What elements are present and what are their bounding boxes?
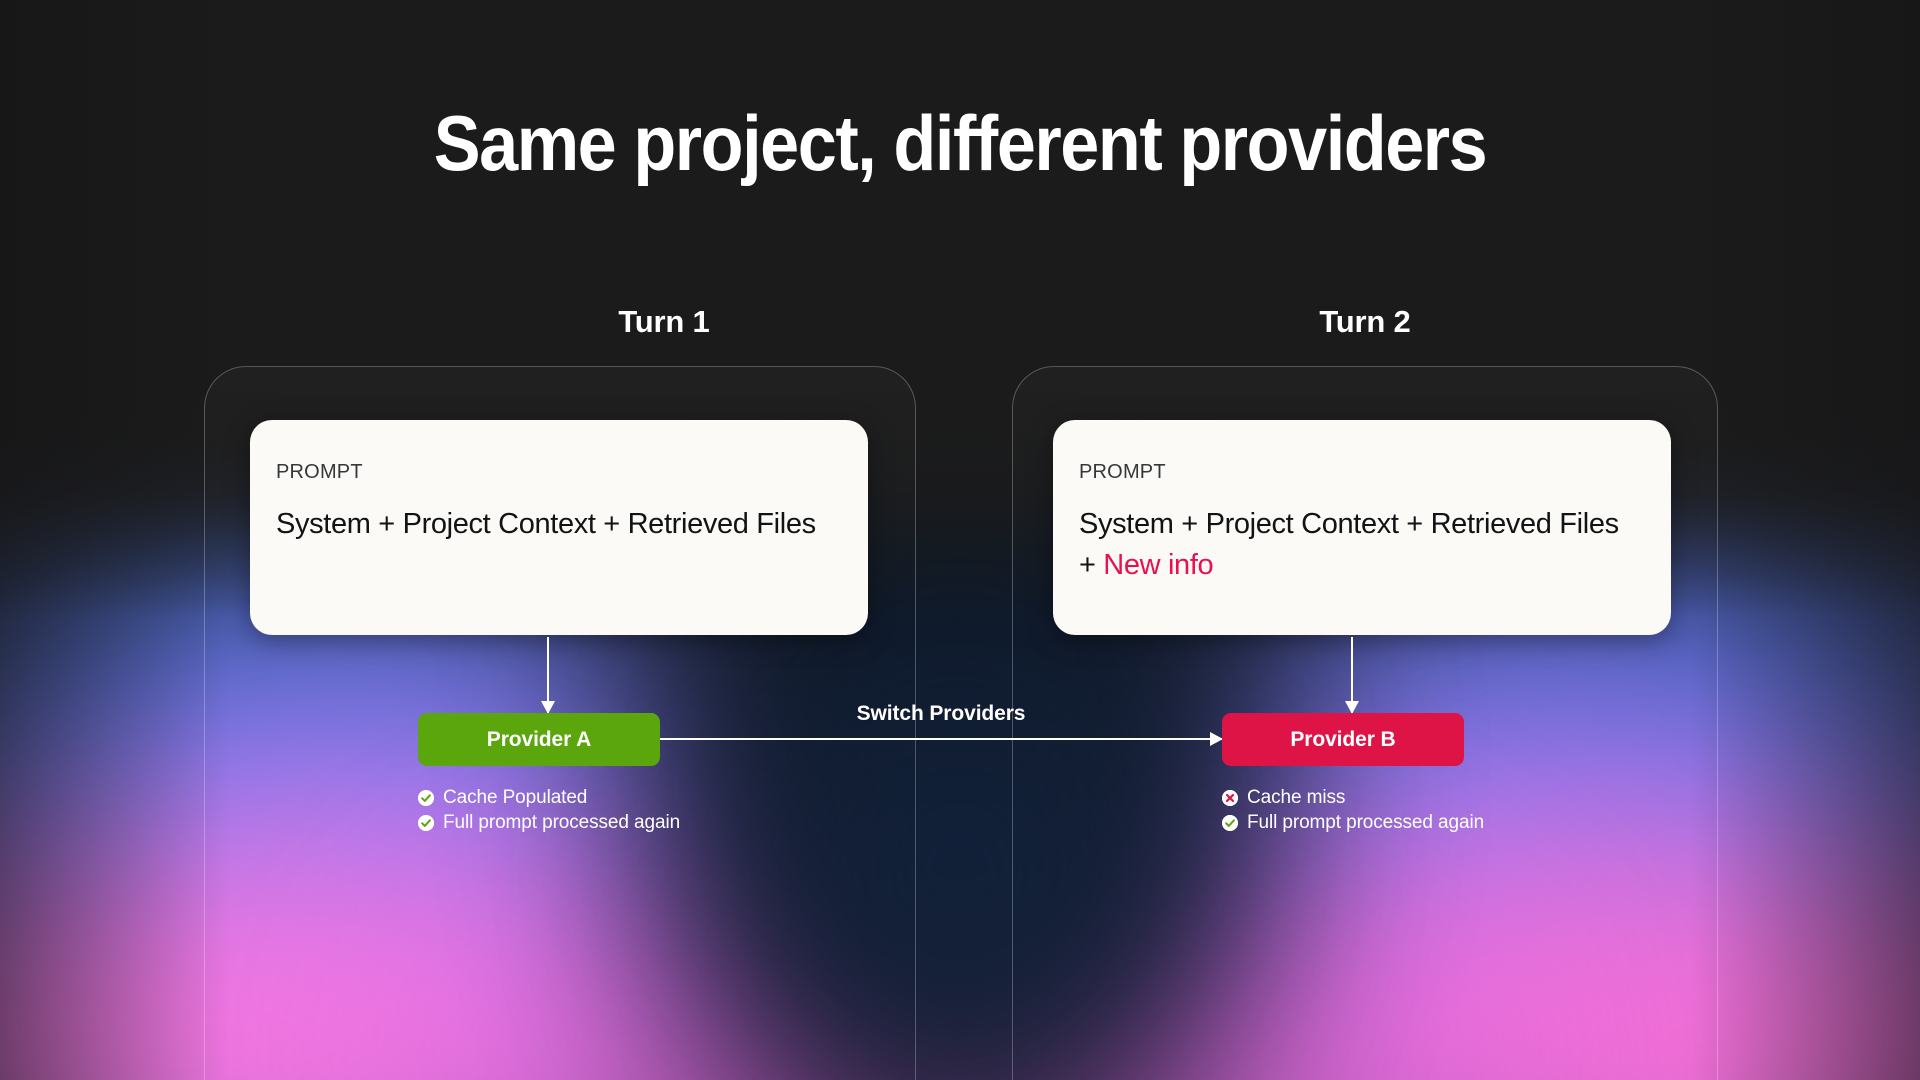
- status-item: Cache Populated: [418, 785, 680, 810]
- cross-circle-icon: [1222, 790, 1238, 806]
- prompt-body: System + Project Context + Retrieved Fil…: [1079, 504, 1641, 586]
- turn-1-status-list: Cache Populated Full prompt processed ag…: [418, 785, 680, 835]
- turn-1-label: Turn 1: [204, 304, 1124, 340]
- turn-1-flow-arrow: [541, 637, 555, 713]
- check-circle-icon: [418, 815, 434, 831]
- turn-2-status-list: Cache miss Full prompt processed again: [1222, 785, 1484, 835]
- check-circle-icon: [1222, 815, 1238, 831]
- status-label: Full prompt processed again: [1247, 812, 1484, 834]
- prompt-body: System + Project Context + Retrieved Fil…: [276, 504, 838, 545]
- page-title: Same project, different providers: [96, 104, 1824, 182]
- status-label: Cache Populated: [443, 787, 587, 809]
- slide-canvas: Same project, different providers Turn 1…: [0, 0, 1920, 1080]
- prompt-kicker: PROMPT: [1079, 462, 1641, 482]
- provider-b-button[interactable]: Provider B: [1222, 713, 1464, 766]
- status-label: Full prompt processed again: [443, 812, 680, 834]
- turn-2-prompt-card: PROMPT System + Project Context + Retrie…: [1053, 420, 1671, 635]
- provider-a-button[interactable]: Provider A: [418, 713, 660, 766]
- status-item: Full prompt processed again: [1222, 810, 1484, 835]
- status-item: Cache miss: [1222, 785, 1484, 810]
- prompt-highlight: New info: [1103, 549, 1213, 581]
- prompt-kicker: PROMPT: [276, 462, 838, 482]
- prompt-text: System + Project Context + Retrieved Fil…: [276, 508, 816, 540]
- status-label: Cache miss: [1247, 787, 1345, 809]
- check-circle-icon: [418, 790, 434, 806]
- turn-2-label: Turn 2: [1012, 304, 1718, 340]
- turn-1-prompt-card: PROMPT System + Project Context + Retrie…: [250, 420, 868, 635]
- turn-2-flow-arrow: [1345, 637, 1359, 713]
- status-item: Full prompt processed again: [418, 810, 680, 835]
